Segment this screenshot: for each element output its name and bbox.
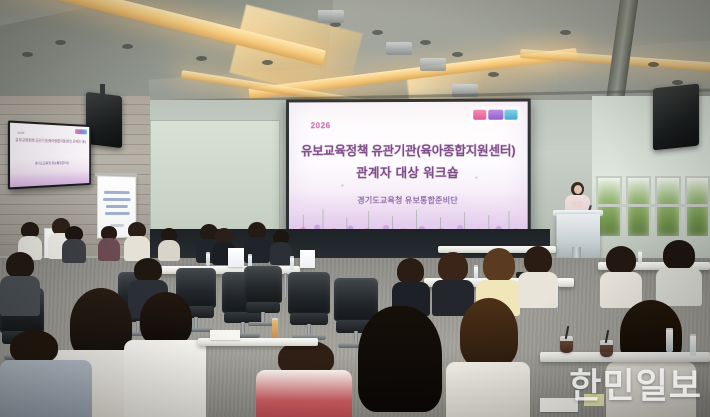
- window-pane: [685, 176, 710, 238]
- ceiling-vent: [318, 10, 344, 23]
- chair: [288, 272, 330, 340]
- ceiling-spotlight: [420, 40, 431, 45]
- ceiling-speaker-right: [653, 84, 699, 151]
- ceiling-spotlight: [55, 40, 66, 45]
- water-bottle: [666, 328, 673, 352]
- slide-title-line1: 유보교육정책 유관기관(육아종합지원센터): [289, 140, 528, 159]
- projection-screen-frame: 2026 유보교육정책 유관기관(육아종합지원센터) 관계자 대상 워크숍 경기…: [286, 99, 531, 237]
- attendee: [344, 306, 456, 417]
- ceiling: [0, 0, 710, 108]
- workshop-photograph: 2026 유보교육정책 유관기관(육아종합지원센터) 관계자 대상 워크숍 경기…: [0, 0, 710, 417]
- slide-floral-band: [289, 191, 528, 234]
- attendee: [98, 226, 120, 260]
- right-windows: [596, 176, 710, 238]
- iced-coffee-cup: [560, 336, 573, 353]
- chair: [244, 266, 282, 326]
- name-placard: [228, 248, 244, 267]
- slide-year: 2026: [311, 121, 331, 130]
- paper-handout: [210, 330, 240, 340]
- attendee: [446, 298, 530, 417]
- ceiling-spotlight: [648, 62, 659, 67]
- attendee: [124, 222, 150, 260]
- attendee: [270, 230, 292, 264]
- monitor-logo-icon: [75, 129, 87, 134]
- window-mullion: [596, 204, 710, 207]
- water-bottle: [272, 318, 278, 338]
- gyeonggi-education-logo-icon: [472, 107, 520, 122]
- attendee: [600, 246, 642, 308]
- butterfly-icon: [474, 176, 478, 179]
- attendee: [158, 228, 180, 260]
- ceiling-vent: [386, 42, 412, 55]
- attendee: [62, 226, 86, 262]
- ceiling-spotlight: [488, 72, 499, 77]
- ceiling-spotlight: [196, 56, 207, 61]
- monitor-year: 2026: [17, 131, 24, 135]
- ceiling-spotlight: [672, 80, 683, 85]
- ceiling-speaker-left: [86, 92, 122, 148]
- water-bottle: [290, 256, 294, 270]
- attendee: [656, 240, 702, 306]
- ceiling-vent: [420, 58, 446, 71]
- window-pane: [626, 176, 652, 238]
- table: [540, 352, 710, 362]
- attendee: [0, 330, 92, 417]
- window-pane: [655, 176, 681, 238]
- ceiling-spotlight: [452, 52, 463, 57]
- ceiling-spotlight: [22, 52, 33, 57]
- slide-title-line2: 관계자 대상 워크숍: [289, 162, 528, 181]
- presenter-arm: [571, 201, 583, 208]
- attendee: [0, 252, 40, 314]
- sticky-note: [584, 394, 604, 406]
- attendee: [124, 292, 206, 417]
- ceiling-spotlight: [372, 30, 383, 35]
- ceiling-spotlight: [122, 44, 133, 49]
- ceiling-spotlight: [262, 60, 273, 65]
- name-placard: [300, 250, 315, 268]
- monitor-organizer: 경기도교육청 유보통합준비단: [10, 161, 89, 166]
- projection-screen: 2026 유보교육정책 유관기관(육아종합지원센터) 관계자 대상 워크숍 경기…: [289, 102, 528, 234]
- butterfly-icon: [340, 184, 344, 187]
- paper-handout: [540, 398, 578, 412]
- presenter-face: [574, 185, 582, 194]
- water-bottle: [690, 334, 696, 356]
- water-bottle: [206, 252, 210, 266]
- ceiling-spotlight: [560, 30, 571, 35]
- attendee: [256, 340, 352, 417]
- wall-monitor: 2026 유보교육정책 유관기관(육아종합지원센터) 관계자 대상 워크숍 경기…: [8, 120, 91, 189]
- iced-coffee-cup: [600, 340, 613, 357]
- monitor-title: 유보교육정책 유관기관(육아종합지원센터) 관계자 대상 워크숍: [15, 137, 86, 145]
- wall-monitor-screen: 2026 유보교육정책 유관기관(육아종합지원센터) 관계자 대상 워크숍 경기…: [10, 123, 89, 188]
- monitor-floral-band: [10, 171, 89, 187]
